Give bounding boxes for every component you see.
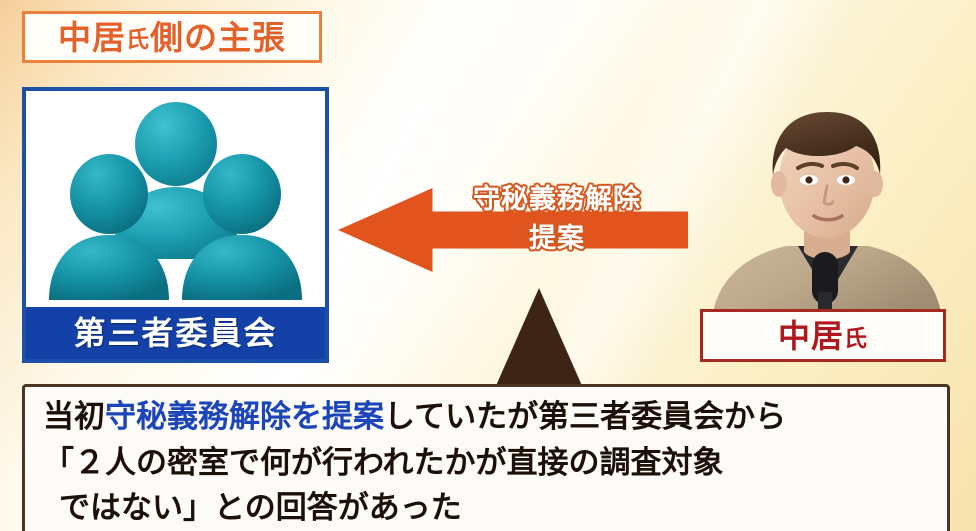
third-party-committee-card: 第三者委員会 (22, 87, 329, 363)
caption-box: 当初守秘義務解除を提案していたが第三者委員会から 「２人の密室で何が行われたかが… (22, 384, 950, 531)
committee-label: 第三者委員会 (26, 307, 325, 359)
caption-line1-highlight: 守秘義務解除を提案 (105, 399, 384, 435)
three-people-icon (26, 91, 325, 307)
person-name: 中居氏 (778, 320, 868, 352)
person-portrait-illustration (700, 96, 950, 318)
pedestal-triangle (495, 288, 583, 388)
caption-line-1: 当初守秘義務解除を提案していたが第三者委員会から (43, 395, 933, 441)
proposal-arrow: 守秘義務解除 提案 (338, 188, 688, 272)
three-people-illustration (26, 91, 325, 307)
broadcast-graphic-slide: 中居氏側の主張 (0, 0, 976, 531)
person-name-plate: 中居氏 (700, 309, 946, 362)
headline-title-box: 中居氏側の主張 (22, 11, 322, 63)
page-title: 中居氏側の主張 (58, 21, 286, 54)
caption-line1-post: していたが第三者委員会から (384, 399, 786, 435)
caption-line1-pre: 当初 (43, 399, 105, 435)
caption-line-2: 「２人の密室で何が行われたかが直接の調査対象 (43, 441, 933, 487)
person-photo (700, 96, 950, 318)
caption-line-3: ではない」との回答があった (43, 486, 933, 531)
arrow-label-line2: 提案 (426, 219, 688, 258)
arrow-label-line1: 守秘義務解除 (426, 180, 688, 219)
arrow-label: 守秘義務解除 提案 (426, 180, 688, 258)
